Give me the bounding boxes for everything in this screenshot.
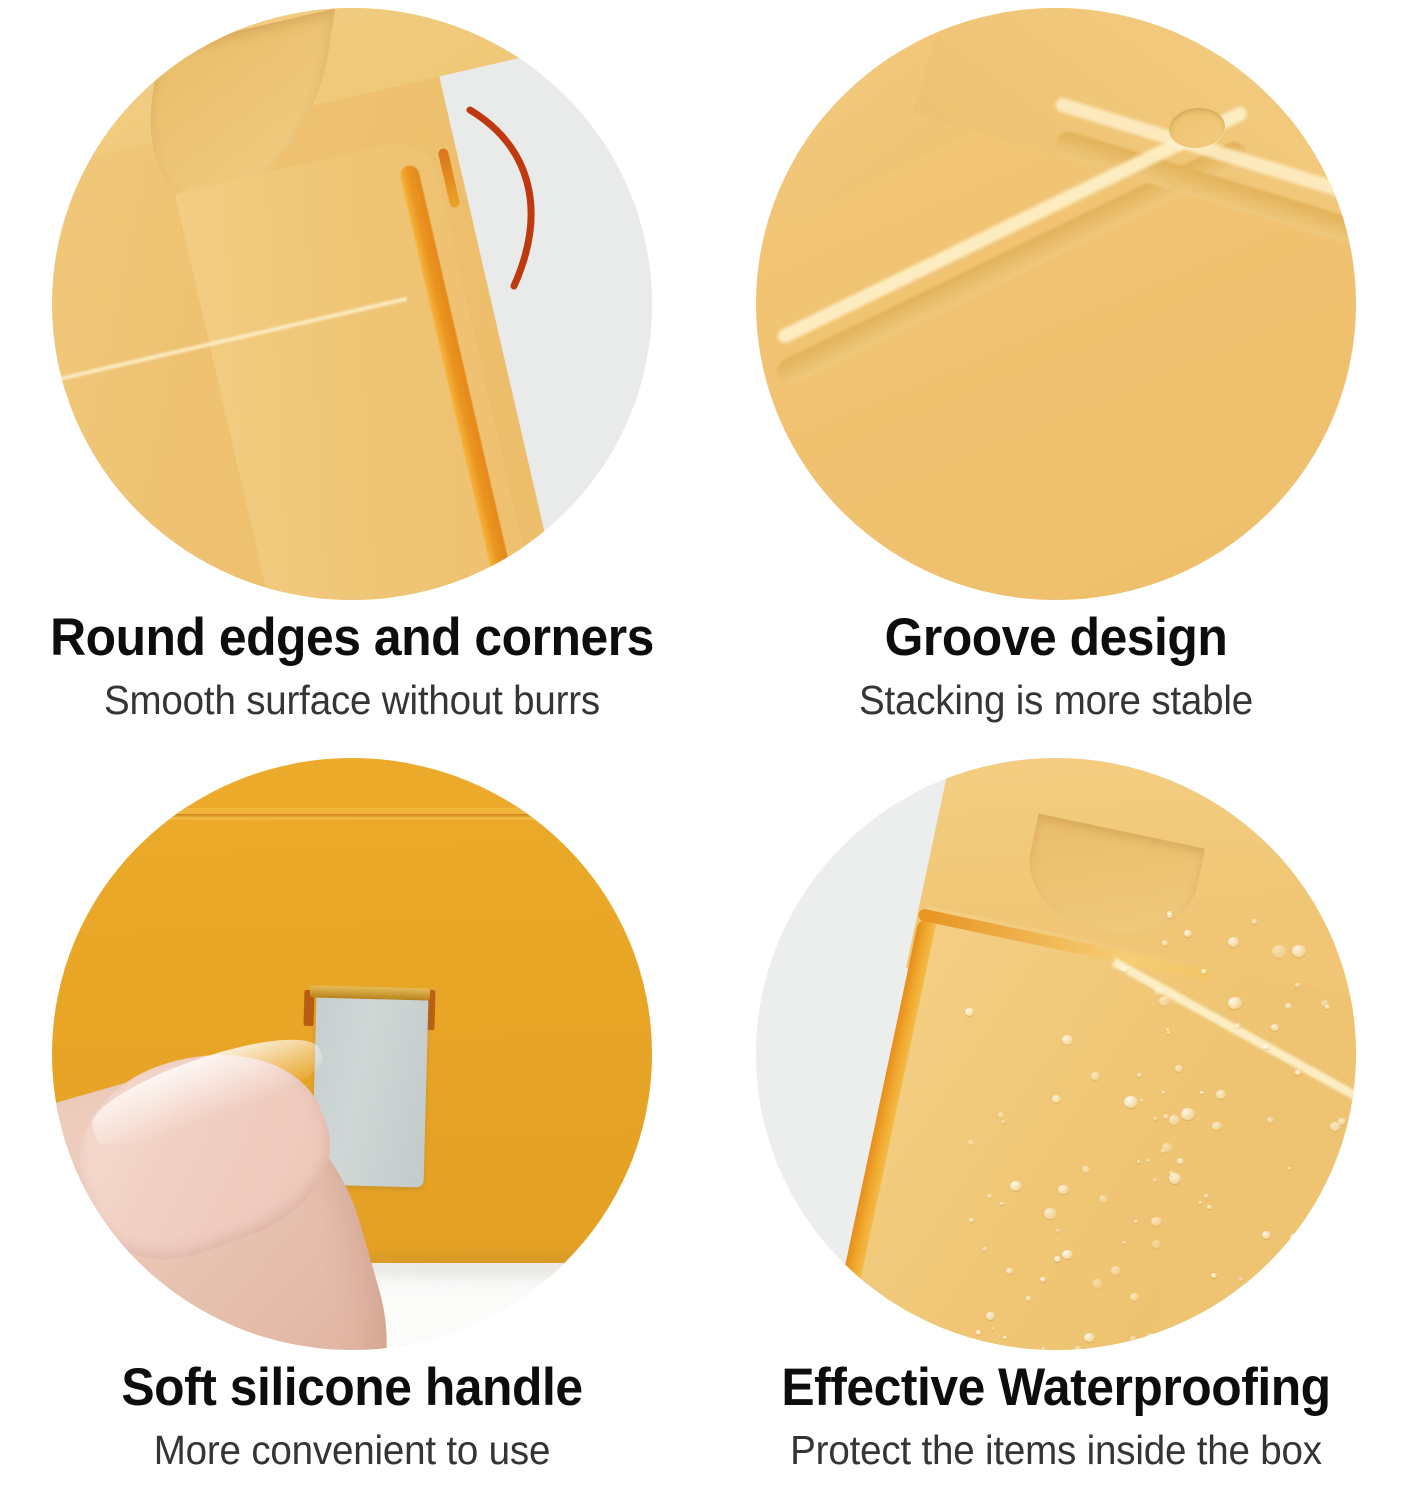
water-droplet [1137,1160,1140,1163]
water-droplet [1200,1091,1204,1094]
water-droplet [1056,1229,1060,1232]
water-droplet [976,1330,981,1335]
feature-subtitle: Smooth surface without burrs [21,674,683,726]
water-droplet [1239,1277,1243,1281]
water-droplet [1290,1233,1302,1244]
water-droplet [1330,1122,1341,1131]
feature-cell-waterproofing: Effective Waterproofing Protect the item… [704,750,1408,1500]
water-droplet [1162,1091,1165,1094]
water-droplet [1252,919,1257,924]
feature-title: Soft silicone handle [21,1358,683,1418]
water-droplet [1181,1108,1195,1120]
water-droplet [1353,1228,1356,1232]
water-droplet [1151,1217,1162,1226]
water-droplet [1167,1031,1170,1034]
feature-photo-silicone-handle [52,758,652,1350]
feature-caption: Soft silicone handle More convenient to … [0,1358,704,1476]
water-droplet [1167,913,1173,918]
red-arc-annotation-icon [452,98,582,298]
water-droplet [1026,1296,1031,1301]
water-droplet [1161,1149,1165,1153]
water-droplet [1000,1202,1004,1205]
water-droplet [1292,945,1306,957]
water-droplet [1111,1266,1121,1275]
water-droplet [1121,966,1128,972]
water-droplet [965,1008,974,1016]
water-droplet [1124,1096,1138,1108]
water-droplet [1002,1120,1005,1123]
feature-caption: Round edges and corners Smooth surface w… [0,608,704,726]
feature-subtitle: Stacking is more stable [725,674,1387,726]
feature-caption: Effective Waterproofing Protect the item… [704,1358,1408,1476]
feature-title: Effective Waterproofing [725,1358,1387,1418]
feature-title: Round edges and corners [21,608,683,668]
feature-subtitle: More convenient to use [21,1424,683,1476]
water-droplet [1212,1122,1222,1130]
water-droplet [1199,1201,1202,1204]
water-droplet [1092,1279,1103,1288]
feature-subtitle: Protect the items inside the box [725,1424,1387,1476]
feature-photo-waterproofing [756,758,1356,1350]
water-droplet [1010,1181,1022,1191]
water-droplet [1177,1158,1184,1164]
water-droplet [1082,1166,1090,1173]
water-droplet [1130,1336,1136,1341]
feature-grid: Round edges and corners Smooth surface w… [0,0,1408,1500]
water-droplet [986,1312,995,1320]
water-droplet [1084,1333,1095,1342]
feature-photo-groove-design [756,8,1356,600]
water-droplet [1153,1178,1157,1182]
water-droplet [1091,1072,1100,1080]
water-droplet [1159,996,1170,1006]
water-droplet [1204,1194,1209,1198]
water-droplet [1006,1268,1013,1274]
water-droplet [1062,1250,1073,1259]
water-droplet [1058,1185,1069,1194]
feature-photo-round-edges [52,8,652,600]
water-droplet [1062,1035,1073,1045]
water-droplet [1163,1114,1169,1119]
water-droplet [1146,1333,1157,1343]
feature-cell-round-edges: Round edges and corners Smooth surface w… [0,0,704,750]
feature-caption: Groove design Stacking is more stable [704,608,1408,726]
feature-cell-groove-design: Groove design Stacking is more stable [704,0,1408,750]
water-droplet [1262,1231,1271,1239]
water-droplet [1044,1208,1057,1219]
silicone-handle-tab [314,996,426,1186]
water-droplet [1295,1070,1301,1075]
water-droplet [1211,1273,1217,1278]
water-droplet [1201,969,1207,974]
water-droplet [1154,987,1164,996]
water-droplet [1162,940,1168,946]
water-droplet [1343,1243,1348,1247]
water-droplet [1075,1346,1081,1350]
water-droplet [1295,983,1300,987]
water-droplet [1285,1003,1292,1009]
feature-cell-silicone-handle: Soft silicone handle More convenient to … [0,750,704,1500]
water-droplet [969,1218,974,1222]
lid-seam-line [52,814,652,821]
water-droplet [1264,1045,1269,1049]
water-droplet [1152,1240,1161,1248]
water-droplet [1040,1277,1046,1282]
water-droplet [1134,1220,1138,1223]
feature-title: Groove design [725,608,1387,668]
water-droplet [1122,1241,1126,1244]
water-droplet [998,1112,1004,1118]
